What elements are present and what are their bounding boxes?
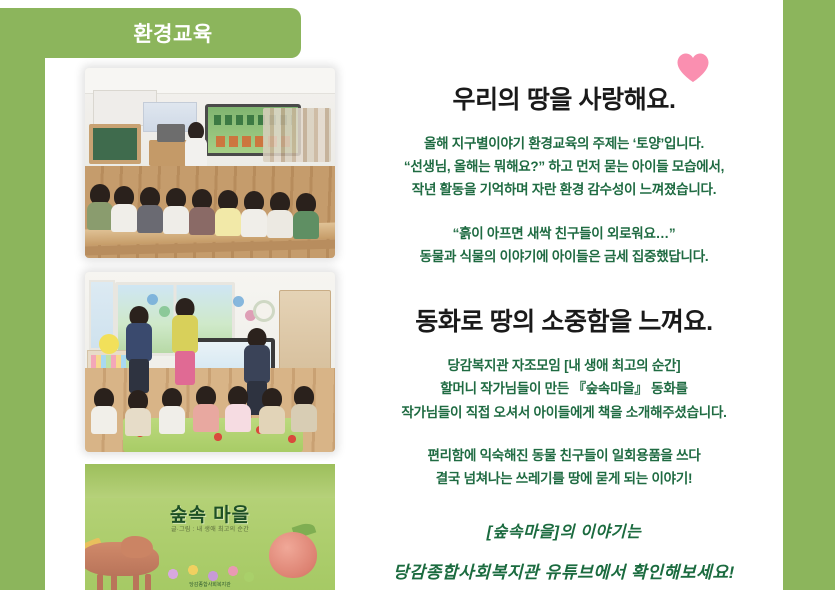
- photo2-wall-clock: [253, 300, 275, 322]
- cta-line-1: [숲속마을]의 이야기는: [345, 518, 783, 542]
- photo2-child: [259, 388, 285, 436]
- text-line: “흙이 아프면 새싹 친구들이 외로워요…”: [453, 226, 676, 241]
- photo1-child: [163, 188, 189, 232]
- photo2-child: [291, 386, 317, 432]
- photo1-child: [137, 187, 163, 231]
- photo-classroom-lesson: [85, 68, 335, 258]
- book-branch-decoration: [85, 464, 335, 498]
- text-line: 결국 넘쳐나는 쓰레기를 땅에 묻게 되는 이야기!: [436, 471, 692, 486]
- section-2-paragraph-2: 편리함에 익숙해진 동물 친구들이 일회용품을 쓰다 결국 넘쳐나는 쓰레기를 …: [345, 444, 783, 490]
- photo1-child: [241, 191, 267, 235]
- book-apple: [269, 532, 317, 578]
- text-column: 우리의 땅을 사랑해요. 올해 지구별이야기 환경교육의 주제는 ‘토양’입니다…: [345, 58, 783, 583]
- photo2-window-decoration: [147, 294, 158, 305]
- media-column: 숲속 마을 글·그림 : 내 생애 최고의 순간 당감종합사회복지관: [85, 68, 340, 590]
- newsletter-page: 환경교육: [0, 0, 835, 590]
- photo1-child: [87, 184, 113, 228]
- section-2-heading: 동화로 땅의 소중함을 느껴요.: [415, 302, 712, 338]
- text-line: 편리함에 익숙해진 동물 친구들이 일회용품을 쓰다: [427, 448, 700, 463]
- photo1-child: [267, 192, 293, 236]
- section-tab-label: 환경교육: [133, 18, 212, 48]
- book-cover-soopsok-maeul: 숲속 마을 글·그림 : 내 생애 최고의 순간 당감종합사회복지관: [85, 464, 335, 590]
- text-line: 작년 활동을 기억하며 자란 환경 감수성이 느껴졌습니다.: [412, 182, 716, 197]
- photo1-child: [111, 186, 137, 230]
- photo2-balloon: [99, 334, 119, 354]
- section-1-paragraph-1: 올해 지구별이야기 환경교육의 주제는 ‘토양’입니다. “선생님, 올해는 뭐…: [345, 132, 783, 202]
- photo2-child: [91, 388, 117, 436]
- cta-line-2[interactable]: 당감종합사회복지관 유튜브에서 확인해보세요!: [345, 558, 783, 583]
- section-storybook: 동화로 땅의 소중함을 느껴요. 당감복지관 자조모임 [내 생애 최고의 순간…: [345, 268, 783, 490]
- left-green-bar: [0, 8, 45, 590]
- text-line: 올해 지구별이야기 환경교육의 주제는 ‘토양’입니다.: [424, 136, 704, 151]
- text-line: 동물과 식물의 이야기에 아이들은 금세 집중했답니다.: [420, 249, 709, 264]
- photo2-child: [193, 386, 219, 432]
- section-love-our-land: 우리의 땅을 사랑해요. 올해 지구별이야기 환경교육의 주제는 ‘토양’입니다…: [345, 58, 783, 268]
- photo1-child: [189, 189, 215, 233]
- call-to-action: [숲속마을]의 이야기는 당감종합사회복지관 유튜브에서 확인해보세요!: [345, 518, 783, 583]
- heart-icon: [676, 52, 710, 83]
- right-green-bar: [783, 0, 835, 590]
- text-line: 작가님들이 직접 오셔서 아이들에게 책을 소개해주셨습니다.: [401, 405, 726, 420]
- text-line: 당감복지관 자조모임 [내 생애 최고의 순간]: [448, 358, 681, 373]
- photo1-clothes-rack: [263, 108, 331, 162]
- book-fox-head: [121, 536, 153, 558]
- section-tab[interactable]: 환경교육: [45, 8, 301, 58]
- content-panel: 숲속 마을 글·그림 : 내 생애 최고의 순간 당감종합사회복지관 우리의 땅…: [45, 58, 783, 590]
- photo1-child: [215, 190, 241, 234]
- photo1-monitor: [157, 124, 185, 142]
- text-line: 할머니 작가님들이 만든 『숲속마을』 동화를: [440, 381, 687, 396]
- photo2-child: [159, 388, 185, 434]
- section-2-paragraph-1: 당감복지관 자조모임 [내 생애 최고의 순간] 할머니 작가님들이 만든 『숲…: [345, 354, 783, 424]
- photo2-child: [125, 390, 151, 438]
- book-credit: 당감종합사회복지관: [85, 581, 335, 588]
- photo1-chalkboard: [89, 124, 141, 164]
- photo1-teacher-body: [185, 138, 207, 168]
- photo2-window-decoration: [233, 296, 244, 307]
- section-1-paragraph-2: “흙이 아프면 새싹 친구들이 외로워요…” 동물과 식물의 이야기에 아이들은…: [345, 222, 783, 268]
- photo2-child: [225, 386, 251, 434]
- book-title: 숲속 마을: [85, 500, 335, 527]
- photo1-child: [293, 193, 319, 237]
- text-line: “선생님, 올해는 뭐해요?” 하고 먼저 묻는 아이들 모습에서,: [404, 159, 724, 174]
- section-1-heading: 우리의 땅을 사랑해요.: [452, 80, 675, 116]
- photo-storybook-authors: [85, 272, 335, 452]
- photo2-window-decoration: [159, 306, 170, 317]
